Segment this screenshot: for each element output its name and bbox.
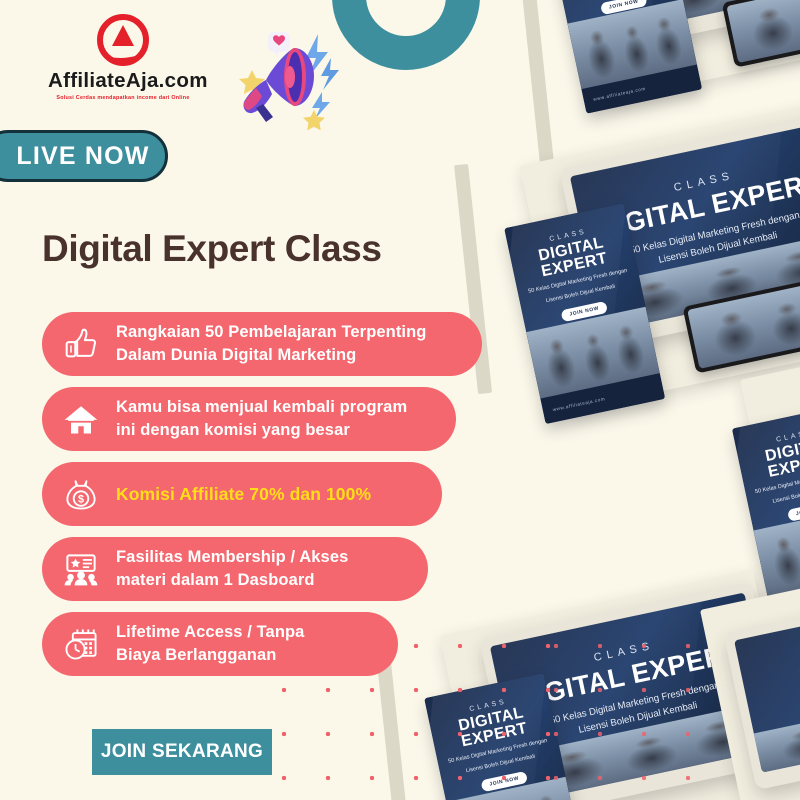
benefit-text-5: Lifetime Access / Tanpa Biaya Berlanggan…: [116, 621, 304, 667]
brand-name: AffiliateAja.com: [48, 69, 198, 93]
mockup-card: CLASS DIGITAL EXPERT 50 Kelas Digital Ma…: [546, 0, 702, 114]
brand-logo: AffiliateAja.com Solusi Cerdas mendapatk…: [48, 14, 198, 101]
brand-tagline: Solusi Cerdas mendapatkan income dari On…: [48, 95, 198, 101]
home-icon: [58, 396, 104, 442]
mockup-join-now-label: JOIN NOW: [569, 305, 600, 317]
mockup-prop-bar: [520, 0, 556, 181]
mockup-join-now-label: JOIN NOW: [796, 506, 800, 518]
live-now-label: LIVE NOW: [0, 142, 149, 171]
benefit-line-1: Fasilitas Membership / Akses: [116, 546, 348, 569]
benefit-text-4: Fasilitas Membership / Akses materi dala…: [116, 546, 348, 592]
money-bag-icon: $: [58, 471, 104, 517]
mockup-card-screen: CLASS DIGITAL EXPERT 50 Kelas Digital Ma…: [546, 0, 702, 114]
benefit-line-2: materi dalam 1 Dasboard: [116, 569, 348, 592]
mockup-eyebrow: CLASS: [752, 620, 800, 672]
megaphone-3d-icon: [232, 18, 352, 130]
calendar-clock-icon: [58, 621, 104, 667]
join-sekarang-button[interactable]: JOIN SEKARANG: [92, 729, 272, 775]
affiliate-a-mark-icon: [97, 14, 149, 66]
thumbs-up-icon: [58, 321, 104, 367]
benefit-line-1: Kamu bisa menjual kembali program: [116, 396, 407, 419]
benefit-line-1: Lifetime Access / Tanpa: [116, 621, 304, 644]
svg-text:$: $: [78, 494, 84, 506]
benefit-item-4: Fasilitas Membership / Akses materi dala…: [42, 537, 428, 601]
join-sekarang-label: JOIN SEKARANG: [101, 741, 263, 763]
page-title: Digital Expert Class: [42, 228, 382, 270]
promo-poster: CLASS DIGITAL EXPERT 50 Kelas Digital Ma…: [0, 0, 800, 800]
mockup-join-now-button[interactable]: JOIN NOW: [787, 501, 800, 522]
benefit-item-1: Rangkaian 50 Pembelajaran Terpenting Dal…: [42, 312, 482, 376]
mockup-footer-url: www.affiliateaja.com: [584, 86, 647, 104]
benefit-item-2: Kamu bisa menjual kembali program ini de…: [42, 387, 456, 451]
benefit-line-2: Biaya Berlangganan: [116, 644, 304, 667]
benefit-item-5: Lifetime Access / Tanpa Biaya Berlanggan…: [42, 612, 398, 676]
mockup-photo: [726, 0, 800, 63]
benefit-text-3: Komisi Affiliate 70% dan 100%: [116, 482, 371, 506]
mockup-footer-url: www.affiliateaja.com: [543, 396, 606, 414]
benefit-text-2: Kamu bisa menjual kembali program ini de…: [116, 396, 407, 442]
membership-card-people-icon: [58, 546, 104, 592]
dot-grid-pattern-secondary: [530, 620, 710, 800]
live-now-badge[interactable]: LIVE NOW: [0, 130, 168, 182]
benefit-text-1: Rangkaian 50 Pembelajaran Terpenting Dal…: [116, 321, 426, 367]
benefit-item-3: $ Komisi Affiliate 70% dan 100%: [42, 462, 442, 526]
benefit-line-1: Rangkaian 50 Pembelajaran Terpenting: [116, 321, 426, 344]
benefit-line-1: Komisi Affiliate 70% dan 100%: [116, 482, 371, 506]
benefits-list: Rangkaian 50 Pembelajaran Terpenting Dal…: [42, 312, 482, 687]
benefit-line-2: Dalam Dunia Digital Marketing: [116, 344, 426, 367]
benefit-line-2: ini dengan komisi yang besar: [116, 419, 407, 442]
